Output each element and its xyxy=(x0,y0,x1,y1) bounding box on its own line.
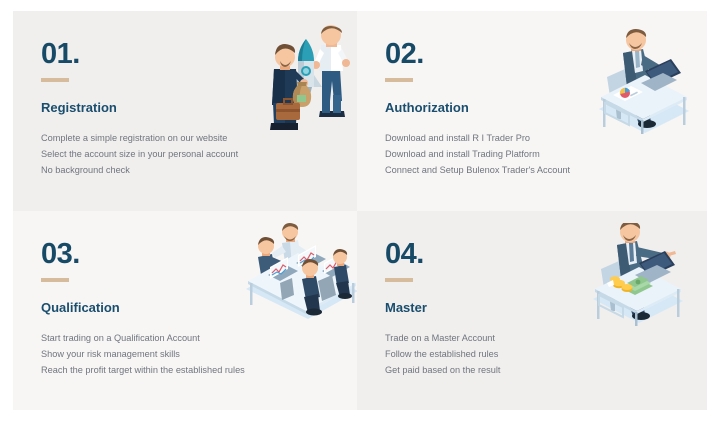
step-card-content: 04. Master Trade on a Master Account Fol… xyxy=(385,240,645,378)
step-points-list: Complete a simple registration on our we… xyxy=(41,130,301,178)
step-title: Qualification xyxy=(41,300,301,316)
step-point: Reach the profit target within the estab… xyxy=(41,362,301,378)
step-card-master: 04. Master Trade on a Master Account Fol… xyxy=(357,211,707,410)
step-number: 04. xyxy=(385,240,645,269)
accent-underline xyxy=(385,78,413,82)
step-title: Master xyxy=(385,300,645,316)
step-point: Start trading on a Qualification Account xyxy=(41,330,301,346)
accent-underline xyxy=(385,278,413,282)
step-point: Trade on a Master Account xyxy=(385,330,645,346)
step-number: 02. xyxy=(385,40,645,69)
step-points-list: Trade on a Master Account Follow the est… xyxy=(385,330,645,378)
step-card-content: 03. Qualification Start trading on a Qua… xyxy=(41,240,301,378)
step-card-content: 02. Authorization Download and install R… xyxy=(385,40,645,178)
step-number: 01. xyxy=(41,40,301,69)
step-point: Select the account size in your personal… xyxy=(41,146,301,162)
step-card-registration: 01. Registration Complete a simple regis… xyxy=(13,11,357,211)
step-point: Download and install R I Trader Pro xyxy=(385,130,645,146)
step-points-list: Download and install R I Trader Pro Down… xyxy=(385,130,645,178)
step-points-list: Start trading on a Qualification Account… xyxy=(41,330,301,378)
step-title: Authorization xyxy=(385,100,645,116)
accent-underline xyxy=(41,278,69,282)
steps-grid: 01. Registration Complete a simple regis… xyxy=(13,11,707,410)
step-point: Follow the established rules xyxy=(385,346,645,362)
accent-underline xyxy=(41,78,69,82)
step-point: No background check xyxy=(41,162,301,178)
step-point: Show your risk management skills xyxy=(41,346,301,362)
step-card-content: 01. Registration Complete a simple regis… xyxy=(41,40,301,178)
step-card-qualification: 03. Qualification Start trading on a Qua… xyxy=(13,211,357,410)
step-point: Complete a simple registration on our we… xyxy=(41,130,301,146)
step-card-authorization: 02. Authorization Download and install R… xyxy=(357,11,707,211)
step-title: Registration xyxy=(41,100,301,116)
step-point: Download and install Trading Platform xyxy=(385,146,645,162)
step-point: Get paid based on the result xyxy=(385,362,645,378)
step-number: 03. xyxy=(41,240,301,269)
step-point: Connect and Setup Bulenox Trader's Accou… xyxy=(385,162,645,178)
